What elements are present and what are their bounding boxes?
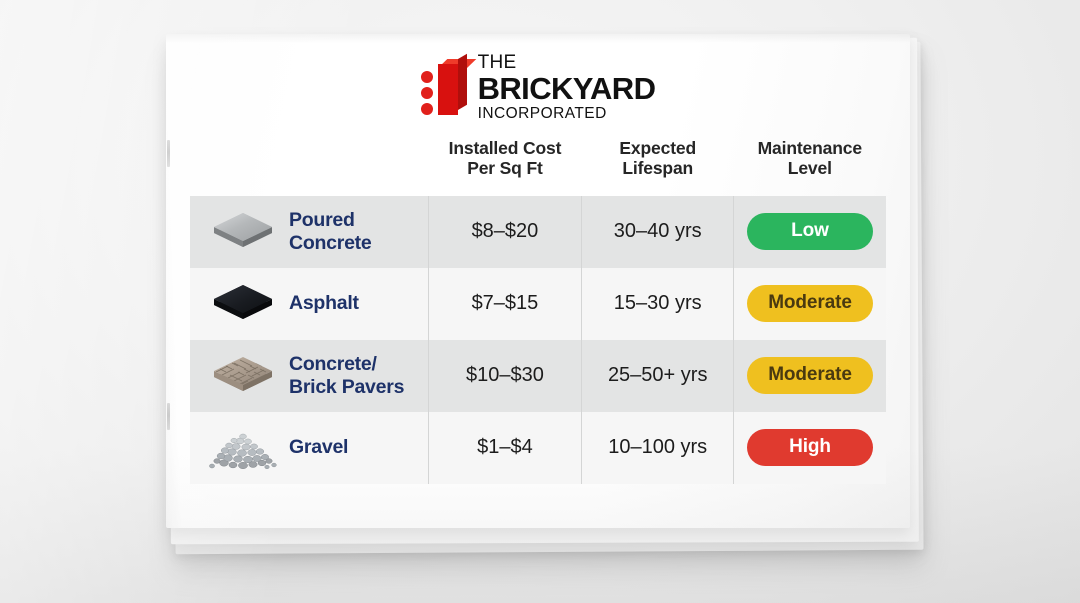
status-badge: Moderate <box>747 357 873 394</box>
material-name-line2: Concrete <box>289 232 372 254</box>
material-name-line1: Poured <box>289 209 355 231</box>
column-header-lifespan-line1: Expected <box>588 138 728 158</box>
table-row: Concrete/ Brick Pavers $10–$30 25–50+ yr… <box>190 340 886 412</box>
logo-dot-1 <box>421 71 433 83</box>
cell-lifespan: 10–100 yrs <box>582 412 734 484</box>
material-name-line1: Asphalt <box>289 292 359 314</box>
column-header-cost-line1: Installed Cost <box>434 138 576 158</box>
material-name-line1: Gravel <box>289 436 348 458</box>
paper-stack: THE BRICKYARD INCORPORATED Installed Cos… <box>166 34 918 554</box>
cell-material: Concrete/ Brick Pavers <box>190 340 428 412</box>
logo-brick-side-face <box>458 54 467 110</box>
table-header: Installed Cost Per Sq Ft Expected Lifesp… <box>190 134 886 196</box>
status-badge: High <box>747 429 873 466</box>
logo-brick-front-face <box>438 64 458 115</box>
logo-dot-3 <box>421 103 433 115</box>
material-name-line1: Concrete/ <box>289 353 377 375</box>
table-row: Asphalt $7–$15 15–30 yrs Moderate <box>190 268 886 340</box>
cell-cost: $7–$15 <box>428 268 582 340</box>
material-comparison-table: Installed Cost Per Sq Ft Expected Lifesp… <box>190 134 886 484</box>
cell-maintenance: High <box>734 412 886 484</box>
concrete-slab-icon <box>208 206 278 258</box>
column-header-maintenance-line1: Maintenance <box>740 138 880 158</box>
brand-logo: THE BRICKYARD INCORPORATED <box>190 34 886 134</box>
brand-the: THE <box>478 53 517 72</box>
cell-maintenance: Moderate <box>734 268 886 340</box>
column-header-cost-line2: Per Sq Ft <box>434 158 576 178</box>
brick-paver-slab-icon <box>208 350 278 402</box>
cell-maintenance: Low <box>734 196 886 268</box>
brand-wordmark: THE BRICKYARD INCORPORATED <box>478 53 656 122</box>
gravel-pile-icon <box>208 422 278 474</box>
cell-cost: $10–$30 <box>428 340 582 412</box>
brand-name: BRICKYARD <box>478 73 656 104</box>
material-name: Poured Concrete <box>289 209 372 254</box>
column-header-lifespan-line2: Lifespan <box>588 158 728 178</box>
column-header-lifespan: Expected Lifespan <box>582 134 734 196</box>
asphalt-slab-icon <box>208 278 278 330</box>
cell-lifespan: 25–50+ yrs <box>582 340 734 412</box>
column-header-maintenance: Maintenance Level <box>734 134 886 196</box>
brick-logo-icon <box>421 58 467 116</box>
table-body: Poured Concrete $8–$20 30–40 yrs Low <box>190 196 886 484</box>
column-header-maintenance-line2: Level <box>740 158 880 178</box>
cell-cost: $1–$4 <box>428 412 582 484</box>
table-header-row: Installed Cost Per Sq Ft Expected Lifesp… <box>190 134 886 196</box>
cell-maintenance: Moderate <box>734 340 886 412</box>
column-header-cost: Installed Cost Per Sq Ft <box>428 134 582 196</box>
column-header-material <box>190 134 428 196</box>
status-badge: Low <box>747 213 873 250</box>
logo-brick-shape <box>438 59 467 115</box>
status-badge: Moderate <box>747 285 873 322</box>
table-row: Poured Concrete $8–$20 30–40 yrs Low <box>190 196 886 268</box>
material-name: Asphalt <box>289 292 359 314</box>
material-name: Gravel <box>289 436 348 458</box>
material-name-line2: Brick Pavers <box>289 376 404 398</box>
logo-dot-2 <box>421 87 433 99</box>
cell-material: Gravel <box>190 412 428 484</box>
material-name: Concrete/ Brick Pavers <box>289 353 404 398</box>
cell-material: Poured Concrete <box>190 196 428 268</box>
logo-dots <box>421 71 433 115</box>
cell-lifespan: 30–40 yrs <box>582 196 734 268</box>
brand-inc: INCORPORATED <box>478 106 607 122</box>
table-row: Gravel $1–$4 10–100 yrs High <box>190 412 886 484</box>
printed-flyer-sheet: THE BRICKYARD INCORPORATED Installed Cos… <box>166 34 910 528</box>
cell-lifespan: 15–30 yrs <box>582 268 734 340</box>
cell-material: Asphalt <box>190 268 428 340</box>
cell-cost: $8–$20 <box>428 196 582 268</box>
